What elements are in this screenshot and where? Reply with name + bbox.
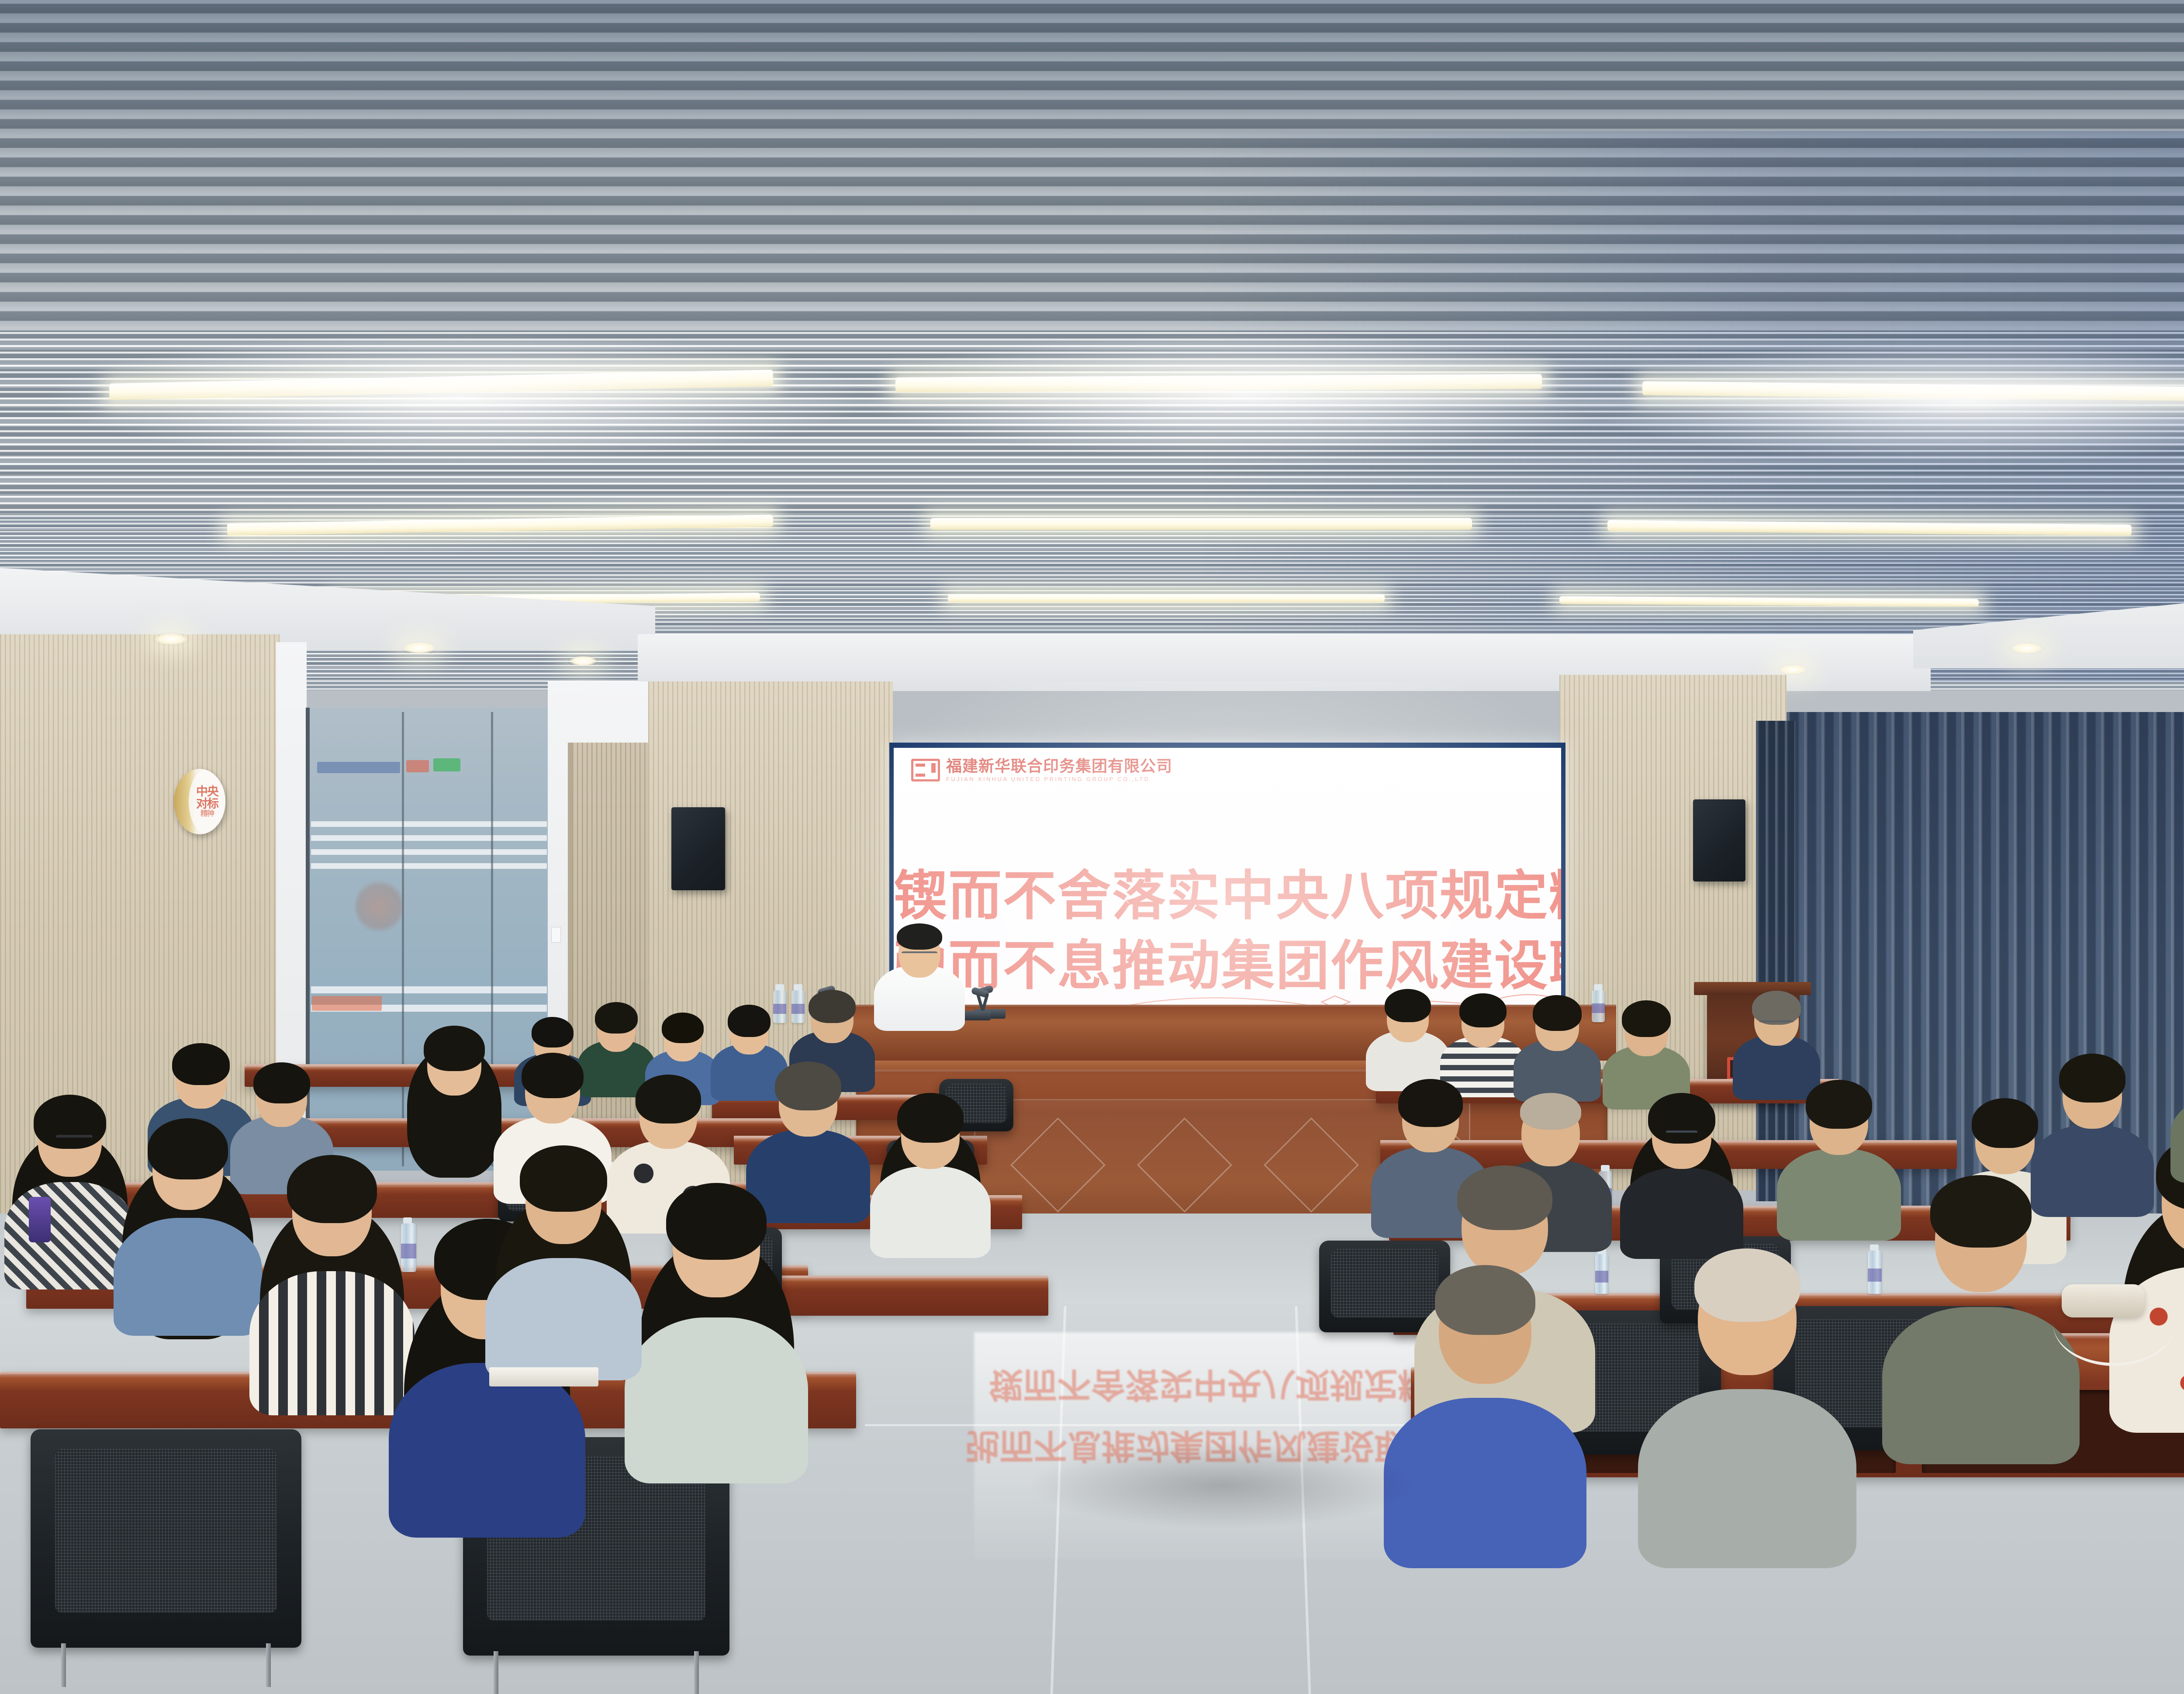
glass-exit-sign-icon <box>433 758 460 771</box>
ceiling-light-glow <box>44 332 874 463</box>
ceiling-strip-light <box>948 594 1385 602</box>
wall-plaque-line3: 精神 <box>200 810 214 818</box>
wall-speaker-left <box>671 807 725 890</box>
attendee <box>1380 1241 1590 1564</box>
wall-plaque-line2: 对标 <box>196 798 218 810</box>
wall-plaque: 中央 对标 精神 <box>174 769 225 834</box>
attendee <box>480 1127 646 1372</box>
glass-frost-band <box>311 821 547 827</box>
ceiling-downlight <box>1778 664 1808 675</box>
glass-emblem-icon <box>355 878 404 935</box>
glass-reflected-sign <box>406 760 429 772</box>
eyeglasses-case[interactable] <box>2062 1284 2145 1317</box>
glass-frost-band <box>311 863 547 869</box>
attendee <box>109 1101 266 1328</box>
light-switch[interactable] <box>551 927 561 943</box>
glass-frost-band <box>311 986 547 993</box>
ceiling-downlight <box>153 633 190 646</box>
attendee <box>1634 1223 1861 1564</box>
company-name-en: FUJIAN XINHUA UNITED PRINTING GROUP CO.,… <box>946 776 1172 782</box>
attendee-glasses-icon <box>1759 1020 1794 1028</box>
presenter <box>869 914 970 1023</box>
attendee <box>2167 1013 2184 1179</box>
ceiling-downlight <box>568 655 598 667</box>
ceiling-downlight <box>401 641 438 654</box>
company-name-cn: 福建新华联合印务集团有限公司 <box>946 758 1172 774</box>
ceiling-light-glow <box>852 332 1638 459</box>
glass-reflected-sign <box>317 762 400 773</box>
ceiling-downlight <box>2009 642 2044 654</box>
floor-shadow <box>1026 1442 1420 1529</box>
presenter-hair <box>897 923 942 950</box>
screen-brand-row: 福建新华联合印务集团有限公司 FUJIAN XINHUA UNITED PRIN… <box>911 758 1172 782</box>
conference-room-photo: 中央 对标 精神 福建新华联合印务集团有限公司 FUJIA <box>0 0 2184 1694</box>
attendee <box>620 1162 812 1476</box>
wall-plaque-face: 中央 对标 精神 <box>189 769 225 834</box>
company-name-block: 福建新华联合印务集团有限公司 FUJIAN XINHUA UNITED PRIN… <box>946 758 1172 782</box>
attendee-glasses-icon <box>1666 1130 1697 1138</box>
smartphone[interactable] <box>29 1197 51 1242</box>
wall-plaque-line1: 中央 <box>196 785 218 798</box>
glass-frost-band <box>311 835 547 841</box>
attendee <box>2027 1040 2158 1214</box>
attendee <box>865 1079 996 1254</box>
wall-speaker-right <box>1693 799 1745 882</box>
attendee-glasses-icon <box>56 1135 93 1144</box>
conference-chair[interactable] <box>31 1429 301 1648</box>
presenter-glasses-icon <box>902 951 937 960</box>
glass-reflected-banner <box>312 996 382 1011</box>
glass-frost-band <box>311 849 547 855</box>
ceiling-light-glow <box>1572 341 2184 463</box>
company-mark-icon <box>911 759 940 781</box>
slide-headline-line-1: 锲而不舍落实中央八项规定精神 <box>894 853 1561 930</box>
ceiling-strip-light <box>930 518 1472 529</box>
notebook[interactable] <box>489 1367 598 1386</box>
